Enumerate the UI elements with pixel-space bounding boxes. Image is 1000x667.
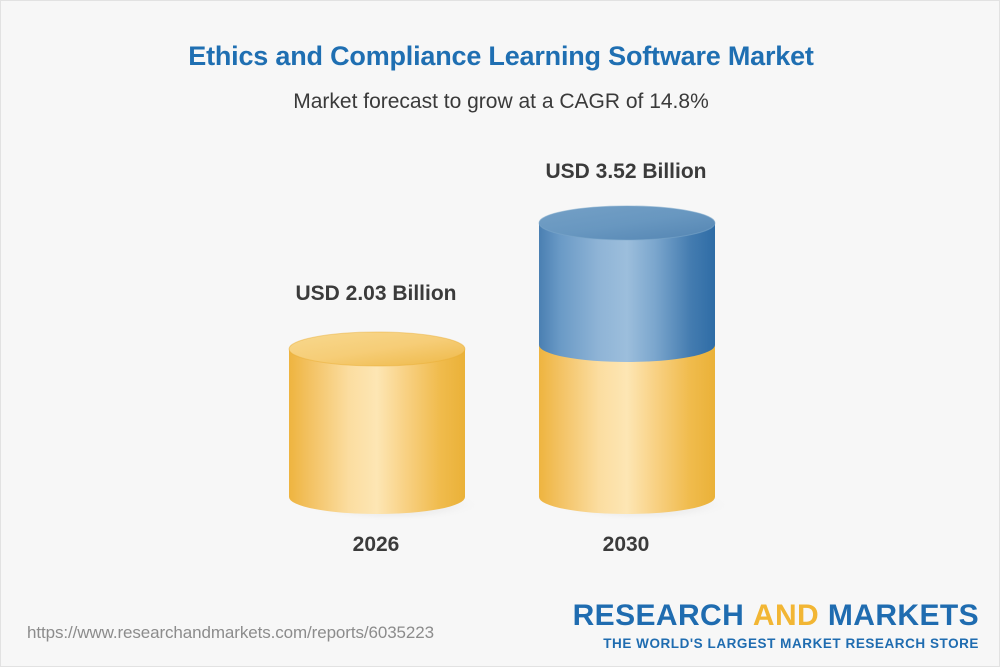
bar-value-label-2030: USD 3.52 Billion bbox=[486, 160, 766, 184]
bar-category-label-2026: 2026 bbox=[236, 533, 516, 557]
brand-word-markets: MARKETS bbox=[828, 599, 979, 632]
brand-tagline: THE WORLD'S LARGEST MARKET RESEARCH STOR… bbox=[573, 636, 979, 651]
bar-cylinder-2026 bbox=[289, 332, 465, 522]
chart-plot-area: USD 2.03 Billion bbox=[1, 1, 1000, 601]
brand-word-and: AND bbox=[753, 599, 819, 632]
brand-logo[interactable]: RESEARCH AND MARKETS THE WORLD'S LARGEST… bbox=[573, 601, 979, 651]
bar-category-label-2030: 2030 bbox=[486, 533, 766, 557]
source-url[interactable]: https://www.researchandmarkets.com/repor… bbox=[27, 623, 434, 643]
bar-body-2026 bbox=[289, 349, 465, 514]
brand-word-research: RESEARCH bbox=[573, 599, 745, 632]
infographic-canvas: Ethics and Compliance Learning Software … bbox=[0, 0, 1000, 667]
bar-value-label-2026: USD 2.03 Billion bbox=[236, 282, 516, 306]
bar-cylinder-2030 bbox=[539, 206, 715, 522]
brand-wordmark: RESEARCH AND MARKETS bbox=[573, 601, 979, 631]
